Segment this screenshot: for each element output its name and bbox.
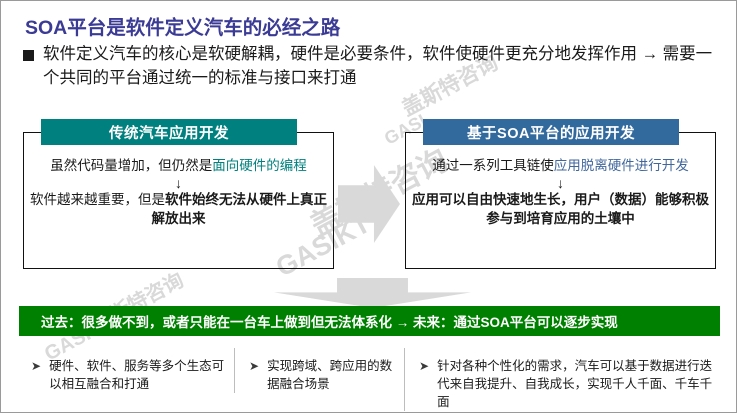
bottom-bullet-1-text: 硬件、软件、服务等多个生态可以相互融合和打通 [49, 357, 234, 393]
panel-soa-down-arrow-icon: ↓ [407, 175, 714, 191]
panel-traditional-down-arrow-icon: ↓ [25, 175, 332, 191]
panel-traditional-line2-bold: 软件始终无法从硬件上真正解放出来 [152, 192, 328, 226]
slide-canvas: 盖斯特咨询 GASIKT 盖斯特咨询 GASI GASI 盖斯特咨询 SOA平台… [0, 0, 737, 413]
bottom-bullet-3: ➤ 针对各种个性化的需求，汽车可以基于数据进行迭代来自我提升、自我成长，实现千人… [404, 348, 720, 411]
panel-traditional-body: 虽然代码量增加，但仍然是面向硬件的编程 ↓ 软件越来越重要，但是软件始终无法从硬… [25, 157, 332, 229]
down-arrow-icon [274, 278, 471, 308]
bottom-bullet-2: ➤ 实现跨域、跨应用的数据融合场景 [234, 348, 404, 393]
panel-soa-line1-plain: 通过一系列工具链使 [432, 158, 554, 173]
square-bullet-icon [23, 50, 34, 61]
summary-banner: 过去：很多做不到，或者只能在一台车上做到但无法体系化 → 未来：通过SOA平台可… [19, 306, 720, 336]
panel-traditional-line1: 虽然代码量增加，但仍然是面向硬件的编程 [25, 157, 332, 175]
arrow-bullet-icon: ➤ [249, 357, 259, 375]
panel-traditional-line2: 软件越来越重要，但是软件始终无法从硬件上真正解放出来 [25, 191, 332, 228]
panel-soa-line2-bold: 应用可以自由快速地生长，用户（数据）能够积极参与到培育应用的土壤中 [412, 192, 709, 226]
panel-traditional-line2-plain: 软件越来越重要，但是 [30, 192, 165, 207]
right-chevron-arrow-icon [338, 165, 400, 243]
page-title: SOA平台是软件定义汽车的必经之路 [25, 11, 340, 40]
panel-soa-line1: 通过一系列工具链使应用脱离硬件进行开发 [407, 157, 714, 175]
panel-soa-body: 通过一系列工具链使应用脱离硬件进行开发 ↓ 应用可以自由快速地生长，用户（数据）… [407, 157, 714, 229]
lead-bullet-text: 软件定义汽车的核心是软硬解耦，硬件是必要条件，软件使硬件更充分地发挥作用 → 需… [43, 43, 723, 91]
bottom-bullet-3-text: 针对各种个性化的需求，汽车可以基于数据进行迭代来自我提升、自我成长，实现千人千面… [437, 357, 720, 411]
panel-soa-line2: 应用可以自由快速地生长，用户（数据）能够积极参与到培育应用的土壤中 [407, 191, 714, 228]
bottom-bullet-1: ➤ 硬件、软件、服务等多个生态可以相互融合和打通 [19, 348, 234, 393]
bottom-bullets-row: ➤ 硬件、软件、服务等多个生态可以相互融合和打通 ➤ 实现跨域、跨应用的数据融合… [19, 348, 720, 406]
lead-bullet: 软件定义汽车的核心是软硬解耦，硬件是必要条件，软件使硬件更充分地发挥作用 → 需… [23, 43, 723, 91]
panel-traditional-header: 传统汽车应用开发 [41, 119, 297, 145]
arrow-bullet-icon: ➤ [419, 357, 429, 375]
panel-traditional-line1-highlight: 面向硬件的编程 [212, 158, 307, 173]
arrow-bullet-icon: ➤ [31, 357, 41, 375]
bottom-bullet-2-text: 实现跨域、跨应用的数据融合场景 [267, 357, 404, 393]
panel-soa-header: 基于SOA平台的应用开发 [423, 119, 679, 145]
panel-soa-line1-highlight: 应用脱离硬件进行开发 [554, 158, 689, 173]
panel-traditional-line1-plain: 虽然代码量增加，但仍然是 [50, 158, 212, 173]
